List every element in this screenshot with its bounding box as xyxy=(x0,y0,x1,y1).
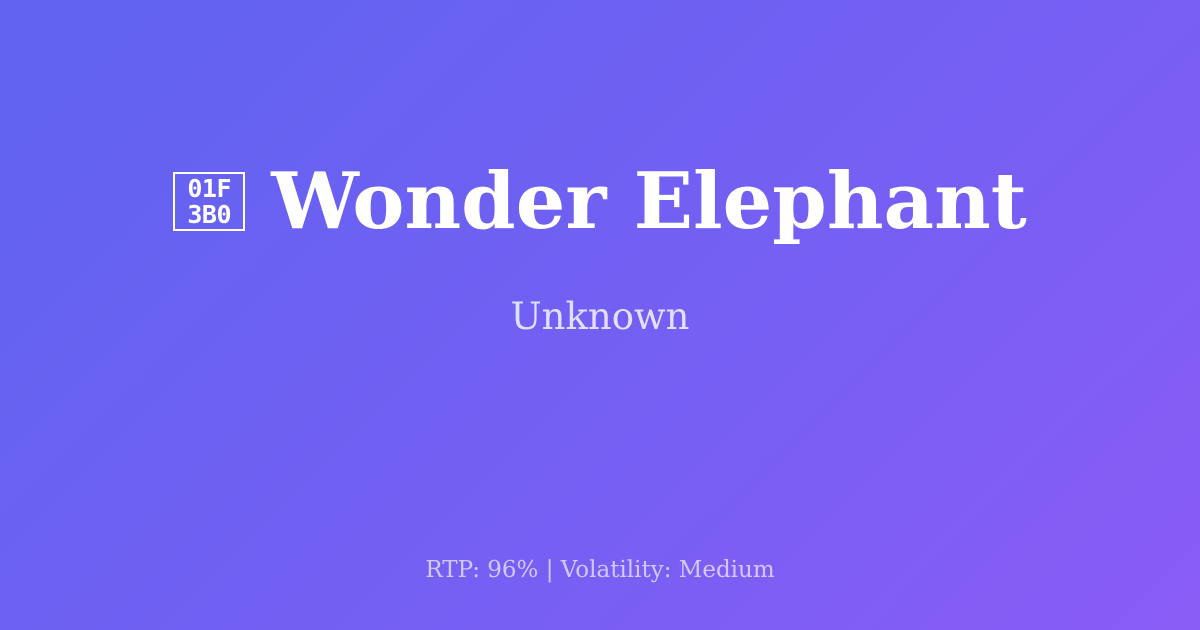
title-row: 01F 3B0 Wonder Elephant xyxy=(60,161,1140,243)
game-title: Wonder Elephant xyxy=(271,161,1027,243)
slot-machine-icon: 01F 3B0 xyxy=(173,172,245,231)
hero-block: 01F 3B0 Wonder Elephant Unknown xyxy=(0,0,1200,500)
game-meta-line: RTP: 96% | Volatility: Medium xyxy=(0,512,1200,630)
slot-machine-icon-codepoint-top: 01F xyxy=(187,176,231,202)
slot-machine-icon-codepoint-bottom: 3B0 xyxy=(187,202,231,228)
game-preview-card: 01F 3B0 Wonder Elephant Unknown RTP: 96%… xyxy=(0,0,1200,630)
game-meta-text: RTP: 96% | Volatility: Medium xyxy=(425,557,774,585)
game-provider: Unknown xyxy=(510,295,689,339)
